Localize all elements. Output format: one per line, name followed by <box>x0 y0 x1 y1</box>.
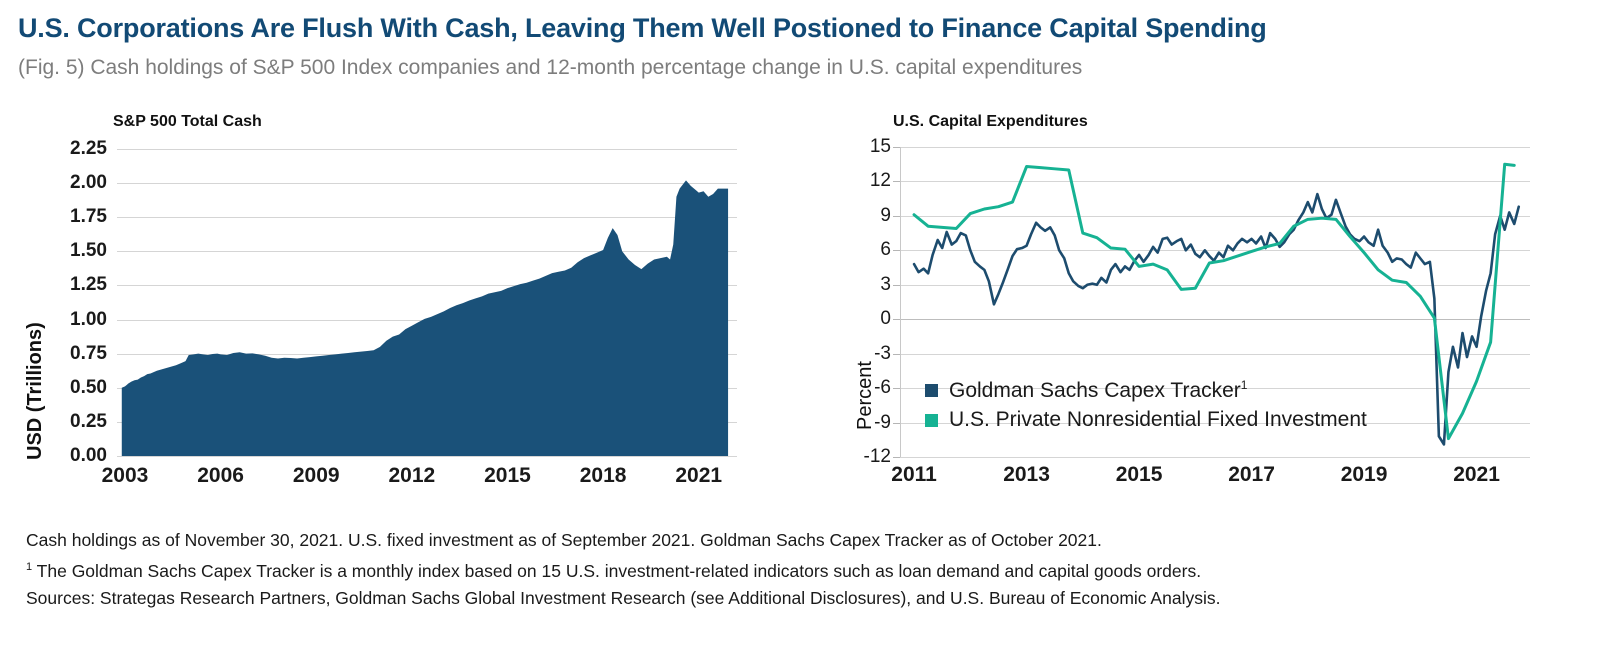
legend-footnote-marker: 1 <box>1241 378 1248 392</box>
footnote-sources: Sources: Strategas Research Partners, Go… <box>26 585 1586 612</box>
y-tick-label: 0.50 <box>17 377 107 399</box>
y-tick-label: -9 <box>801 412 891 434</box>
x-tick-label: 2015 <box>484 464 531 488</box>
y-tick-label: 0.00 <box>17 445 107 467</box>
chart-title-right: U.S. Capital Expenditures <box>893 113 1088 131</box>
y-tick-label: 12 <box>801 170 891 192</box>
footnote-data-asof: Cash holdings as of November 30, 2021. U… <box>26 527 1586 554</box>
y-tick-label: 0.25 <box>17 411 107 433</box>
footnotes: Cash holdings as of November 30, 2021. U… <box>26 527 1586 612</box>
y-tick-label: 2.25 <box>17 138 107 160</box>
y-tick-label: 1.25 <box>17 274 107 296</box>
gridline <box>117 456 737 457</box>
page-title: U.S. Corporations Are Flush With Cash, L… <box>18 13 1267 44</box>
chart-series-group <box>117 149 737 456</box>
gridline <box>900 457 1530 458</box>
y-tick-mark <box>893 388 900 389</box>
area-series-0 <box>122 180 728 456</box>
y-tick-label: 9 <box>801 205 891 227</box>
chart-legend: Goldman Sachs Capex Tracker1 U.S. Privat… <box>925 377 1367 437</box>
footnote-marker: 1 <box>26 561 32 573</box>
y-tick-label: 0.75 <box>17 343 107 365</box>
x-tick-label: 2018 <box>580 464 627 488</box>
legend-swatch-fixed-investment <box>925 414 938 427</box>
y-tick-label: 3 <box>801 274 891 296</box>
y-tick-label: 2.00 <box>17 172 107 194</box>
chart-panel-sp500-total-cash: S&P 500 Total Cash USD (Trillions) 0.000… <box>0 105 790 505</box>
legend-label-capex-tracker: Goldman Sachs Capex Tracker1 <box>949 378 1247 403</box>
legend-item-fixed-investment[interactable]: U.S. Private Nonresidential Fixed Invest… <box>925 407 1367 433</box>
figure-page: U.S. Corporations Are Flush With Cash, L… <box>0 0 1600 655</box>
legend-item-capex-tracker[interactable]: Goldman Sachs Capex Tracker1 <box>925 377 1367 403</box>
x-tick-label: 2003 <box>102 464 149 488</box>
x-tick-label: 2006 <box>197 464 244 488</box>
y-tick-label: -12 <box>801 446 891 468</box>
footnote-capex-tracker: 1 The Goldman Sachs Capex Tracker is a m… <box>26 554 1586 585</box>
legend-label-fixed-investment: U.S. Private Nonresidential Fixed Invest… <box>949 408 1367 432</box>
y-tick-mark <box>893 319 900 320</box>
x-tick-label: 2012 <box>388 464 435 488</box>
y-tick-label: 1.00 <box>17 309 107 331</box>
y-tick-mark <box>893 147 900 148</box>
x-tick-label: 2013 <box>1003 463 1050 487</box>
y-tick-mark <box>893 181 900 182</box>
chart-title-left: S&P 500 Total Cash <box>113 113 262 131</box>
y-tick-label: -6 <box>801 377 891 399</box>
x-tick-label: 2019 <box>1341 463 1388 487</box>
y-tick-mark <box>893 457 900 458</box>
y-tick-mark <box>893 354 900 355</box>
y-tick-mark <box>893 250 900 251</box>
y-tick-label: 1.50 <box>17 240 107 262</box>
page-subtitle: (Fig. 5) Cash holdings of S&P 500 Index … <box>18 56 1082 80</box>
plot-area-left <box>117 149 737 456</box>
y-tick-label: 0 <box>801 308 891 330</box>
x-tick-label: 2015 <box>1116 463 1163 487</box>
x-tick-label: 2021 <box>1453 463 1500 487</box>
x-tick-label: 2011 <box>891 463 937 487</box>
x-tick-label: 2021 <box>675 464 722 488</box>
chart-panel-us-capital-expenditures: U.S. Capital Expenditures Percent -12-9-… <box>830 105 1600 505</box>
y-tick-mark <box>893 285 900 286</box>
y-tick-label: -3 <box>801 343 891 365</box>
y-tick-mark <box>893 423 900 424</box>
y-tick-mark <box>893 216 900 217</box>
y-tick-label: 15 <box>801 136 891 158</box>
legend-swatch-capex-tracker <box>925 384 938 397</box>
x-tick-label: 2009 <box>293 464 340 488</box>
x-tick-label: 2017 <box>1228 463 1275 487</box>
y-tick-label: 6 <box>801 239 891 261</box>
y-tick-label: 1.75 <box>17 206 107 228</box>
footnote-capex-tracker-text: The Goldman Sachs Capex Tracker is a mon… <box>37 561 1201 581</box>
